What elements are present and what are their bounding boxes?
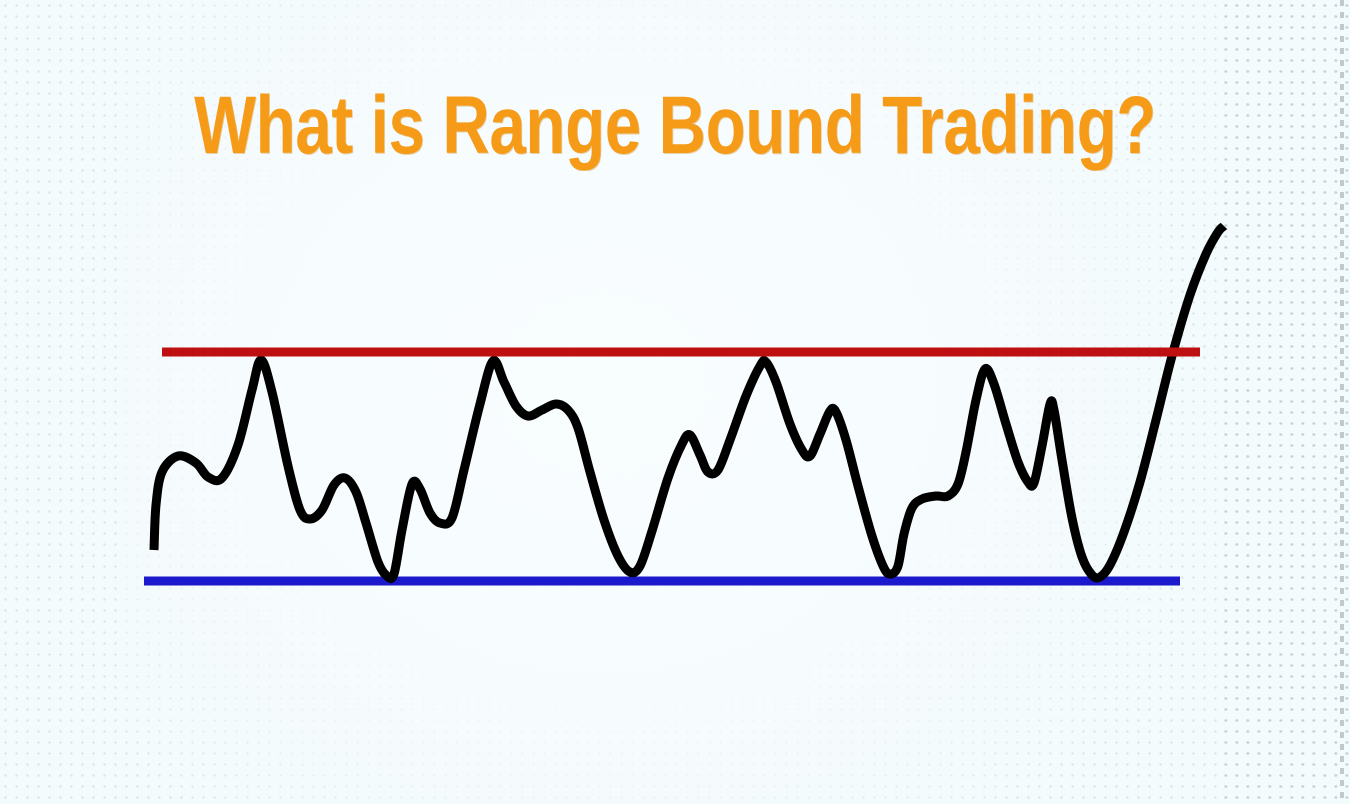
price-line [154,226,1224,579]
range-bound-chart [0,0,1350,804]
slide-canvas: What is Range Bound Trading? [0,0,1350,804]
chart-svg [0,0,1350,804]
